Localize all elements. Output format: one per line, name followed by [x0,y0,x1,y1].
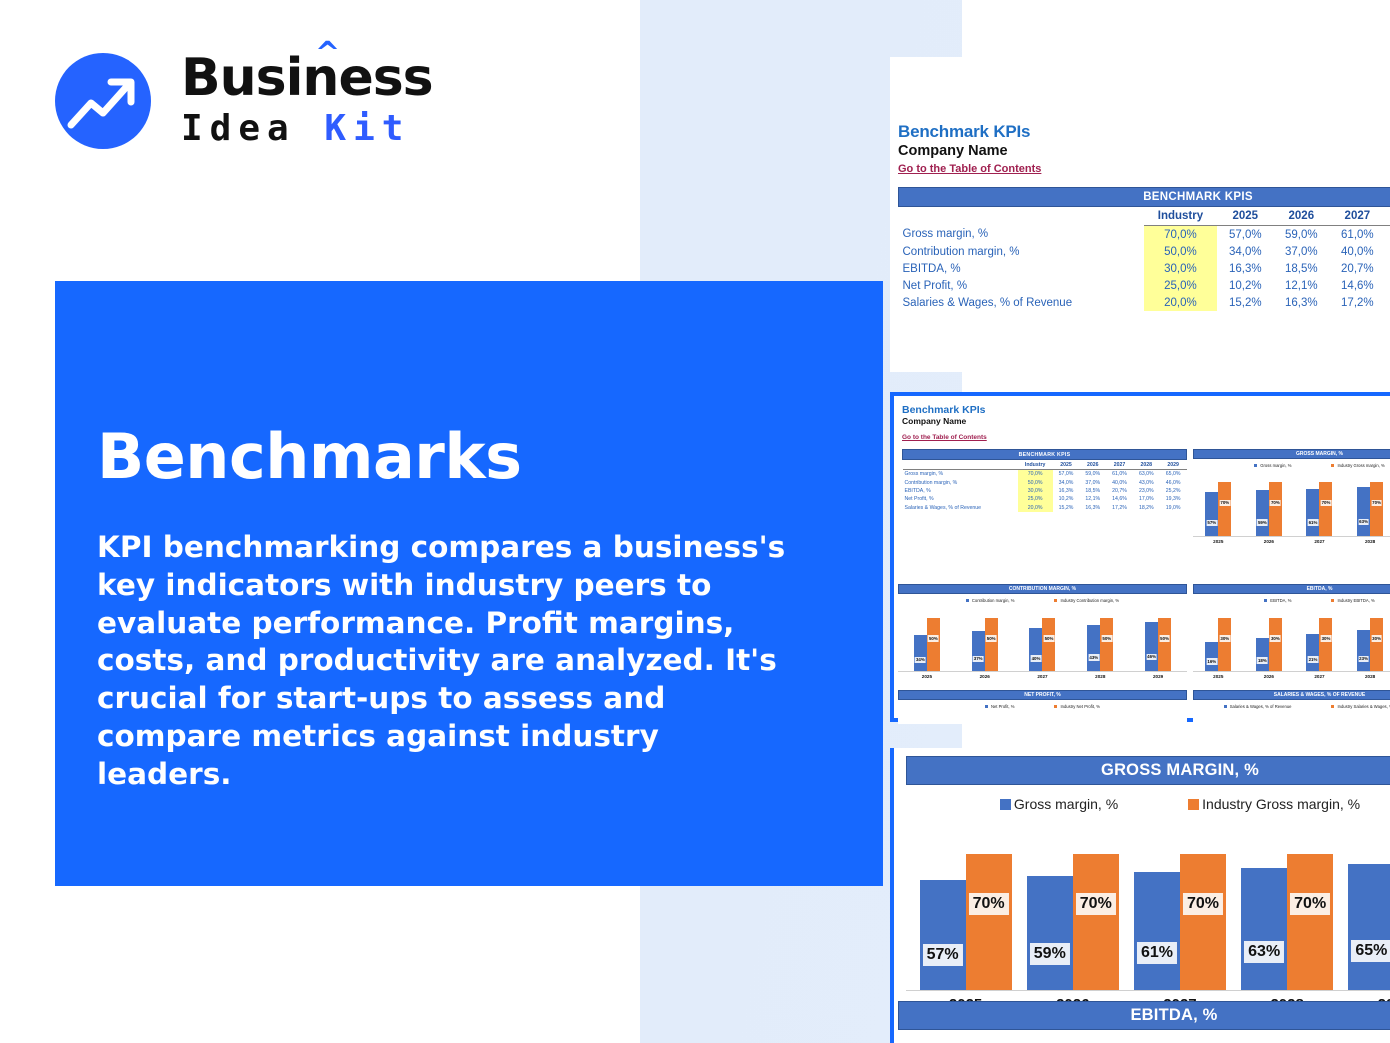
chart-bar[interactable]: 30% [1370,618,1383,671]
chart-axis-tick: 2027 [1314,539,1324,544]
legend-label: Industry Salaries & Wages, % of Revenue [1337,704,1390,709]
kpi-year-value: 23,0% [1133,487,1160,495]
kpi-column-header: Industry [1018,460,1053,470]
kpi-year-value: 14,6% [1329,277,1385,294]
benchmark-kpis-sheet-card[interactable]: Benchmark KPIs Company Name Go to the Ta… [890,57,1390,372]
chart-title: EBITDA, % [1193,584,1390,594]
chart-data-label: 70% [969,893,1009,915]
chart-bar[interactable]: 30% [1319,618,1332,671]
kpi-year-value: 17,0% [1133,495,1160,503]
kpi-row-label: Contribution margin, % [899,243,1144,260]
mini-sheet-header: Benchmark KPIs Company Name Go to the Ta… [902,404,987,444]
chart-data-label: 50% [1159,635,1170,642]
legend-swatch-orange-icon [1054,705,1057,708]
kpi-table-body: BENCHMARK KPISIndustry202520262027202820… [899,188,1390,312]
kpi-year-value: 25,2% [1160,487,1187,495]
chart-legend: Gross margin, %Industry Gross margin, % [906,796,1390,812]
kpi-column-header: 2026 [1273,207,1329,226]
chart-bar-group: 57%70% [1205,474,1231,536]
chart-bar-group: 37%50% [972,609,998,671]
chart-data-label: 37% [973,656,984,663]
chart-axis-tick: 2028 [1365,674,1375,679]
chart-title: SALARIES & WAGES, % OF REVENUE [1193,690,1390,700]
kpi-row-label: Salaries & Wages, % of Revenue [903,504,1018,512]
table-of-contents-link[interactable]: Go to the Table of Contents [898,163,1041,175]
chart-data-label: 70% [1321,500,1332,507]
kpi-column-header: 2027 [1329,207,1385,226]
chart-data-label: 34% [915,657,926,664]
chart-bar[interactable]: 70% [1319,482,1332,536]
kpi-column-header: 2026 [1079,460,1106,470]
chart-x-axis: 20252026202720282029 [1193,671,1390,679]
chart-bar[interactable]: 50% [1042,618,1055,671]
legend-swatch-orange-icon [1188,799,1199,810]
chart-bar[interactable]: 70% [1269,482,1282,536]
sheet-title: Benchmark KPIs [898,122,1041,142]
table-row: EBITDA, %30,0%16,3%18,5%20,7%23,0%25,2% [899,260,1390,277]
kpi-row-label: EBITDA, % [899,260,1144,277]
table-row: EBITDA, %30,0%16,3%18,5%20,7%23,0%25,2% [903,487,1187,495]
legend-label: Industry Gross margin, % [1337,463,1384,468]
chart-bar-group: 65%70% [1348,835,1390,990]
kpi-year-value: 17,2% [1106,504,1133,512]
brand-line-business: Business ^ [181,52,433,104]
chart-bar-group: 21%30% [1306,609,1332,671]
chart-axis-tick: 2026 [1264,539,1274,544]
kpi-industry-value: 50,0% [1144,243,1218,260]
kpi-year-value: 37,0% [1273,243,1329,260]
kpi-year-value: 15,2% [1053,504,1080,512]
chart-bar-group: 16%30% [1205,609,1231,671]
kpi-header-row: Industry20252026202720282029 [903,460,1187,470]
chart-data-label: 61% [1308,519,1319,526]
legend-item: Net Profit, % [985,704,1015,709]
chart-ebitda-large-title: EBITDA, % [898,1001,1390,1030]
chart-bar[interactable]: 30% [1218,618,1231,671]
kpi-year-value: 57,0% [1217,226,1273,244]
legend-item: Industry Gross margin, % [1331,463,1384,468]
kpi-industry-value: 25,0% [1018,495,1053,503]
trending-up-arrow-icon [55,53,151,149]
kpi-row-label: Salaries & Wages, % of Revenue [899,294,1144,311]
brand-idea-text: Idea [181,108,296,149]
chart-bar-group: 57%70% [920,835,1012,990]
chart-axis-tick: 2025 [922,674,932,679]
kpi-industry-value: 20,0% [1018,504,1053,512]
legend-item: Salaries & Wages, % of Revenue [1224,704,1292,709]
chart-axis-tick: 2026 [1264,674,1274,679]
kpi-year-value: 19,3% [1160,495,1187,503]
gross-margin-chart-card[interactable]: GROSS MARGIN, %Gross margin, %Industry G… [890,748,1390,1043]
kpi-year-value: 34,0% [1217,243,1273,260]
kpi-year-value: 59,0% [1079,470,1106,479]
chart-salaries-wages-mini[interactable]: SALARIES & WAGES, % OF REVENUESalaries &… [1193,690,1390,724]
chart-axis-tick: 2027 [1037,674,1047,679]
chart-data-label: 70% [1183,893,1223,915]
chart-plot-area: 57%70%59%70%61%70%63%70%65%70% [1193,474,1390,536]
kpi-column-header: 2025 [1217,207,1273,226]
kpi-industry-value: 20,0% [1144,294,1218,311]
chart-data-label: 50% [928,635,939,642]
kpi-row-label: Contribution margin, % [903,478,1018,486]
table-row: Contribution margin, %50,0%34,0%37,0%40,… [899,243,1390,260]
kpi-year-value: 43,0% [1133,478,1160,486]
kpi-year-value: 16,3% [1053,487,1080,495]
hero-panel: Benchmarks KPI benchmarking compares a b… [55,281,883,886]
chart-bar[interactable]: 30% [1269,618,1282,671]
chart-bar[interactable]: 70% [1180,854,1226,990]
chart-axis-tick: 2026 [980,674,990,679]
chart-bar[interactable]: 63% [1357,487,1370,536]
chart-plot-area: 16%30%18%30%21%30%23%30%25%30% [1193,609,1390,671]
table-row: Salaries & Wages, % of Revenue20,0%15,2%… [903,504,1187,512]
kpi-industry-value: 30,0% [1018,487,1053,495]
kpi-year-value: 15,2% [1217,294,1273,311]
chart-bar[interactable]: 37% [972,631,985,671]
chart-legend: EBITDA, %Industry EBITDA, % [1193,598,1390,603]
chart-bar[interactable]: 57% [920,880,966,990]
chart-bar[interactable]: 16% [1205,642,1218,671]
legend-item: Industry Salaries & Wages, % of Revenue [1331,704,1390,709]
chart-plot-area: 34%50%37%50%40%50%43%50%46%50% [898,609,1187,671]
chart-bar-group: 43%50% [1087,609,1113,671]
chart-bar[interactable]: 61% [1134,872,1180,990]
kpi-banner-row: BENCHMARK KPIS [899,188,1390,207]
chart-data-label: 50% [1044,635,1055,642]
chart-data-label: 70% [1219,500,1230,507]
benchmark-dashboard-card[interactable]: Benchmark KPIs Company Name Go to the Ta… [890,392,1390,722]
chart-bar-group: 40%50% [1029,609,1055,671]
kpi-year-value: 23,0% [1385,260,1390,277]
kpi-banner-row: BENCHMARK KPIS [903,450,1187,460]
chart-data-label: 57% [923,944,963,966]
chart-data-label: 63% [1358,519,1369,526]
chart-title: NET PROFIT, % [898,690,1187,700]
chart-data-label: 70% [1270,500,1281,507]
legend-item: Gross margin, % [1254,463,1291,468]
mini-sheet-title: Benchmark KPIs [902,404,987,416]
chart-bar[interactable]: 50% [985,618,998,671]
mini-table-of-contents-link[interactable]: Go to the Table of Contents [902,434,987,441]
chart-data-label: 70% [1371,500,1382,507]
chart-plot-area: 57%70%59%70%61%70%63%70%65%70% [906,835,1390,990]
kpi-row-label: Net Profit, % [903,495,1018,503]
chart-bar-group: 59%70% [1256,474,1282,536]
table-row: Salaries & Wages, % of Revenue20,0%15,2%… [899,294,1390,311]
kpi-industry-value: 30,0% [1144,260,1218,277]
kpi-year-value: 63,0% [1385,226,1390,244]
legend-label: Industry EBITDA, % [1337,598,1374,603]
table-row: Gross margin, %70,0%57,0%59,0%61,0%63,0%… [903,470,1187,479]
mini-kpi-table-body: BENCHMARK KPISIndustry202520262027202820… [903,450,1187,512]
kpi-column-header: 2028 [1133,460,1160,470]
chart-legend: Contribution margin, %Industry Contribut… [898,598,1187,603]
legend-item: Industry EBITDA, % [1331,598,1374,603]
legend-label: Gross margin, % [1260,463,1291,468]
chart-data-label: 18% [1257,657,1268,664]
chart-data-label: 63% [1244,941,1284,963]
kpi-year-value: 43,0% [1385,243,1390,260]
legend-item: EBITDA, % [1264,598,1291,603]
kpi-column-header: 2029 [1160,460,1187,470]
kpi-column-header: 2025 [1053,460,1080,470]
sheet-company-name: Company Name [898,143,1041,159]
chart-bar-group: 34%50% [914,609,940,671]
kpi-year-value: 40,0% [1106,478,1133,486]
page-title: Benchmarks [97,420,522,493]
legend-swatch-blue-icon [1264,599,1267,602]
chart-bar[interactable]: 18% [1256,638,1269,671]
chart-bar[interactable]: 50% [927,618,940,671]
legend-label: Industry Net Profit, % [1060,704,1100,709]
kpi-year-value: 17,0% [1385,277,1390,294]
kpi-year-value: 20,7% [1329,260,1385,277]
chart-data-label: 59% [1257,519,1268,526]
legend-item: Gross margin, % [1000,796,1118,812]
mini-company-name: Company Name [902,416,987,426]
kpi-year-value: 12,1% [1273,277,1329,294]
legend-swatch-orange-icon [1331,705,1334,708]
legend-swatch-blue-icon [1224,705,1227,708]
kpi-industry-value: 50,0% [1018,478,1053,486]
kpi-column-header: 2027 [1106,460,1133,470]
chart-data-label: 30% [1321,635,1332,642]
chart-gross-margin-large[interactable]: GROSS MARGIN, %Gross margin, %Industry G… [906,756,1390,996]
chart-bar[interactable]: 70% [1073,854,1119,990]
chart-bar[interactable]: 70% [1287,854,1333,990]
chart-bar-group: 61%70% [1134,835,1226,990]
chart-bar-group: 23%30% [1357,609,1383,671]
kpi-banner-label: BENCHMARK KPIS [903,450,1187,460]
kpi-industry-value: 70,0% [1018,470,1053,479]
chart-bar[interactable]: 46% [1145,622,1158,671]
kpi-year-value: 65,0% [1160,470,1187,479]
kpi-year-value: 16,3% [1079,504,1106,512]
kpi-year-value: 18,2% [1133,504,1160,512]
kpi-year-value: 16,3% [1273,294,1329,311]
chart-data-label: 21% [1308,656,1319,663]
chart-axis-tick: 2029 [1153,674,1163,679]
chart-data-label: 30% [1219,635,1230,642]
legend-label: Salaries & Wages, % of Revenue [1230,704,1292,709]
chart-bar-group: 18%30% [1256,609,1282,671]
kpi-industry-value: 25,0% [1144,277,1218,294]
kpi-header-row: Industry20252026202720282029 [899,207,1390,226]
brand-wordmark: Business ^ Idea Kit [181,52,433,149]
legend-swatch-blue-icon [966,599,969,602]
legend-label: Gross margin, % [1014,796,1118,812]
chart-data-label: 43% [1088,654,1099,661]
chart-title: GROSS MARGIN, % [906,756,1390,785]
brand-line-ideakit: Idea Kit [181,108,433,149]
chart-data-label: 40% [1031,655,1042,662]
benchmark-kpis-table: BENCHMARK KPISIndustry202520262027202820… [898,187,1390,311]
chart-bar[interactable]: 50% [1100,618,1113,671]
legend-label: EBITDA, % [1270,598,1291,603]
chart-bar[interactable]: 34% [914,635,927,671]
kpi-row-label: Gross margin, % [903,470,1018,479]
chart-axis-tick: 2028 [1095,674,1105,679]
chart-legend: Gross margin, %Industry Gross margin, % [1193,463,1390,468]
chart-data-label: 50% [986,635,997,642]
chart-bar[interactable]: 70% [1218,482,1231,536]
kpi-industry-value: 70,0% [1144,226,1218,244]
legend-swatch-orange-icon [1331,464,1334,467]
chart-x-axis: 20252026202720282029 [898,671,1187,679]
brand-hat-accent-icon: ^ [315,39,339,69]
legend-item: Industry Gross margin, % [1188,796,1360,812]
chart-data-label: 30% [1371,635,1382,642]
kpi-year-value: 59,0% [1273,226,1329,244]
chart-data-label: 70% [1076,893,1116,915]
chart-bar[interactable]: 61% [1306,489,1319,536]
kpi-row-label: Gross margin, % [899,226,1144,244]
legend-label: Net Profit, % [991,704,1015,709]
chart-title: CONTRIBUTION MARGIN, % [898,584,1187,594]
kpi-row-label: EBITDA, % [903,487,1018,495]
chart-bar-group: 63%70% [1357,474,1383,536]
table-row: Net Profit, %25,0%10,2%12,1%14,6%17,0%19… [903,495,1187,503]
kpi-year-value: 10,2% [1053,495,1080,503]
legend-item: Industry Contribution margin, % [1054,598,1119,603]
chart-net-profit-mini[interactable]: NET PROFIT, %Net Profit, %Industry Net P… [898,690,1187,724]
chart-bar[interactable]: 65% [1348,864,1390,990]
chart-data-label: 57% [1206,520,1217,527]
kpi-year-value: 18,5% [1079,487,1106,495]
chart-bar[interactable]: 21% [1306,634,1319,671]
chart-title: GROSS MARGIN, % [1193,449,1390,459]
legend-swatch-blue-icon [985,705,988,708]
legend-swatch-orange-icon [1331,599,1334,602]
legend-label: Industry Contribution margin, % [1060,598,1119,603]
kpi-year-value: 10,2% [1217,277,1273,294]
chart-axis-tick: 2027 [1314,674,1324,679]
table-row: Gross margin, %70,0%57,0%59,0%61,0%63,0%… [899,226,1390,244]
chart-bar[interactable]: 40% [1029,628,1042,671]
kpi-year-value: 18,5% [1273,260,1329,277]
legend-label: Contribution margin, % [972,598,1015,603]
kpi-year-value: 12,1% [1079,495,1106,503]
legend-swatch-orange-icon [1054,599,1057,602]
chart-bar[interactable]: 57% [1205,492,1218,536]
kpi-year-value: 16,3% [1217,260,1273,277]
legend-swatch-blue-icon [1000,799,1011,810]
chart-data-label: 70% [1290,893,1330,915]
chart-bar[interactable]: 43% [1087,625,1100,671]
kpi-year-value: 18,2% [1385,294,1390,311]
mini-benchmark-kpis-table: BENCHMARK KPISIndustry202520262027202820… [902,449,1187,512]
chart-data-label: 23% [1358,656,1369,663]
legend-swatch-blue-icon [1254,464,1257,467]
kpi-year-value: 37,0% [1079,478,1106,486]
kpi-banner-label: BENCHMARK KPIS [899,188,1390,207]
kpi-year-value: 46,0% [1160,478,1187,486]
chart-data-label: 59% [1030,943,1070,965]
kpi-year-value: 61,0% [1329,226,1385,244]
kpi-year-value: 57,0% [1053,470,1080,479]
kpi-year-value: 34,0% [1053,478,1080,486]
chart-legend: Net Profit, %Industry Net Profit, % [898,704,1187,709]
kpi-year-value: 40,0% [1329,243,1385,260]
chart-bar[interactable]: 59% [1027,876,1073,990]
kpi-column-header: 2028 [1385,207,1390,226]
legend-label: Industry Gross margin, % [1202,796,1360,812]
kpi-column-header: Industry [1144,207,1218,226]
chart-gross-margin-mini[interactable]: GROSS MARGIN, %Gross margin, %Industry G… [1193,449,1390,577]
chart-bar-group: 63%70% [1241,835,1333,990]
chart-bar[interactable]: 50% [1158,618,1171,671]
sheet-header: Benchmark KPIs Company Name Go to the Ta… [898,122,1041,177]
chart-data-label: 65% [1351,940,1390,962]
chart-bar-group: 61%70% [1306,474,1332,536]
chart-axis-tick: 2028 [1365,539,1375,544]
chart-bar[interactable]: 23% [1357,630,1370,671]
chart-ebitda-large-header[interactable]: EBITDA, % EBITDA, % Industry EBITDA, % [898,1001,1390,1043]
chart-bar[interactable]: 63% [1241,868,1287,990]
kpi-year-value: 19,0% [1160,504,1187,512]
kpi-year-value: 14,6% [1106,495,1133,503]
kpi-row-label: Net Profit, % [899,277,1144,294]
legend-item: Contribution margin, % [966,598,1015,603]
kpi-year-value: 61,0% [1106,470,1133,479]
chart-bar-group: 46%50% [1145,609,1171,671]
legend-item: Industry Net Profit, % [1054,704,1100,709]
brand-logo: Business ^ Idea Kit [55,52,433,149]
hero-description: KPI benchmarking compares a business's k… [97,529,787,793]
kpi-year-value: 17,2% [1329,294,1385,311]
chart-data-label: 46% [1146,654,1157,661]
chart-legend: Salaries & Wages, % of RevenueIndustry S… [1193,704,1390,709]
chart-bar[interactable]: 70% [966,854,1012,990]
chart-data-label: 30% [1270,635,1281,642]
chart-bar[interactable]: 70% [1370,482,1383,536]
brand-kit-text: Kit [324,108,410,149]
chart-data-label: 16% [1206,658,1217,665]
chart-bar[interactable]: 59% [1256,490,1269,536]
chart-data-label: 50% [1101,635,1112,642]
kpi-year-value: 20,7% [1106,487,1133,495]
brand-business-text: Business [181,48,433,108]
table-row: Net Profit, %25,0%10,2%12,1%14,6%17,0%19… [899,277,1390,294]
chart-axis-tick: 2025 [1213,539,1223,544]
chart-data-label: 61% [1137,942,1177,964]
chart-x-axis: 20252026202720282029 [1193,536,1390,544]
chart-axis-tick: 2025 [1213,674,1223,679]
slide-canvas: Business ^ Idea Kit Benchmarks KPI bench… [0,0,1390,1043]
table-row: Contribution margin, %50,0%34,0%37,0%40,… [903,478,1187,486]
chart-bar-group: 59%70% [1027,835,1119,990]
kpi-year-value: 63,0% [1133,470,1160,479]
